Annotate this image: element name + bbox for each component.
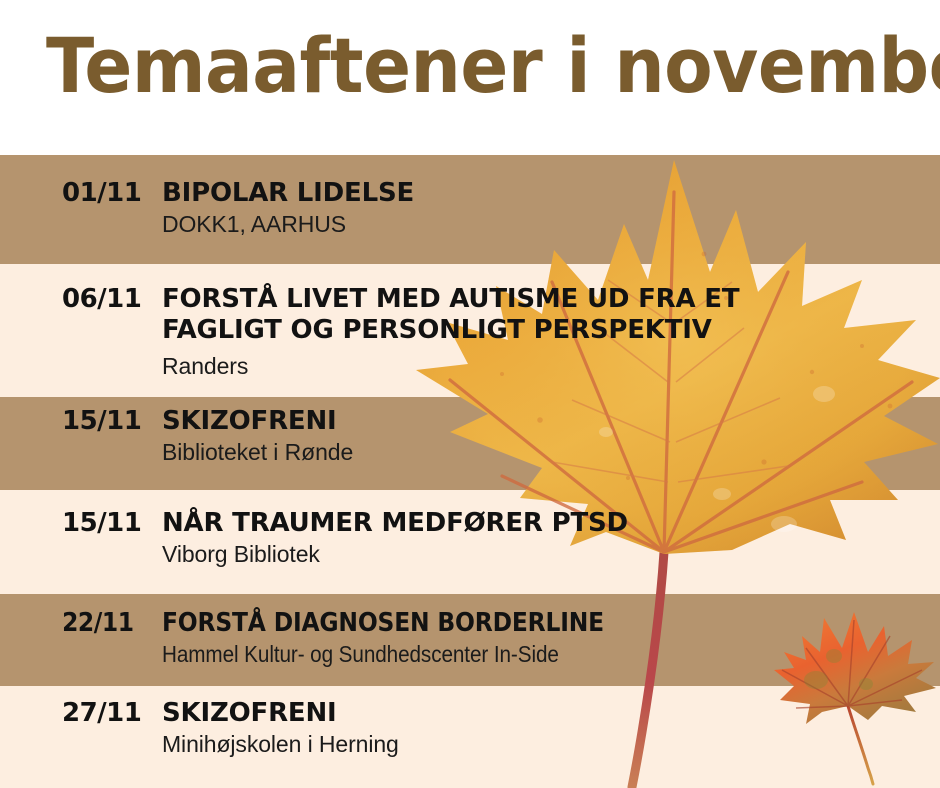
- event-info: BIPOLAR LIDELSE DOKK1, AARHUS: [162, 178, 940, 239]
- event-title: NÅR TRAUMER MEDFØRER PTSD: [162, 508, 932, 539]
- event-row-6[interactable]: 27/11 SKIZOFRENI Minihøjskolen i Herning: [0, 698, 940, 759]
- event-date: 06/11: [0, 284, 162, 314]
- event-location: Biblioteket i Rønde: [162, 438, 932, 467]
- event-date: 15/11: [0, 508, 162, 538]
- event-date: 27/11: [0, 698, 162, 728]
- poster-header: Temaaftener i november: [0, 0, 940, 155]
- event-location: Minihøjskolen i Herning: [162, 730, 932, 759]
- event-location: Viborg Bibliotek: [162, 540, 932, 569]
- event-location: Randers: [162, 352, 932, 381]
- event-row-3[interactable]: 15/11 SKIZOFRENI Biblioteket i Rønde: [0, 406, 940, 467]
- event-title: BIPOLAR LIDELSE: [162, 178, 932, 209]
- event-date: 15/11: [0, 406, 162, 436]
- event-info: FORSTÅ DIAGNOSEN BORDERLINE Hammel Kultu…: [162, 608, 940, 669]
- event-date: 22/11: [0, 608, 146, 638]
- event-poster: Temaaftener i november 01/11 BIPOLAR LID…: [0, 0, 940, 788]
- event-row-4[interactable]: 15/11 NÅR TRAUMER MEDFØRER PTSD Viborg B…: [0, 508, 940, 569]
- event-info: FORSTÅ LIVET MED AUTISME UD FRA ET FAGLI…: [162, 284, 940, 381]
- event-info: NÅR TRAUMER MEDFØRER PTSD Viborg Bibliot…: [162, 508, 940, 569]
- event-location: Hammel Kultur- og Sundhedscenter In-Side: [162, 640, 855, 669]
- event-title: FORSTÅ DIAGNOSEN BORDERLINE: [162, 608, 855, 639]
- page-title: Temaaftener i november: [46, 24, 846, 108]
- event-row-2[interactable]: 06/11 FORSTÅ LIVET MED AUTISME UD FRA ET…: [0, 284, 940, 381]
- event-title: SKIZOFRENI: [162, 406, 932, 437]
- event-title: SKIZOFRENI: [162, 698, 932, 729]
- event-info: SKIZOFRENI Biblioteket i Rønde: [162, 406, 940, 467]
- event-row-5[interactable]: 22/11 FORSTÅ DIAGNOSEN BORDERLINE Hammel…: [0, 608, 940, 669]
- event-title: FORSTÅ LIVET MED AUTISME UD FRA ET FAGLI…: [162, 284, 802, 346]
- event-date: 01/11: [0, 178, 162, 208]
- event-location: DOKK1, AARHUS: [162, 210, 932, 239]
- event-row-1[interactable]: 01/11 BIPOLAR LIDELSE DOKK1, AARHUS: [0, 178, 940, 239]
- event-info: SKIZOFRENI Minihøjskolen i Herning: [162, 698, 940, 759]
